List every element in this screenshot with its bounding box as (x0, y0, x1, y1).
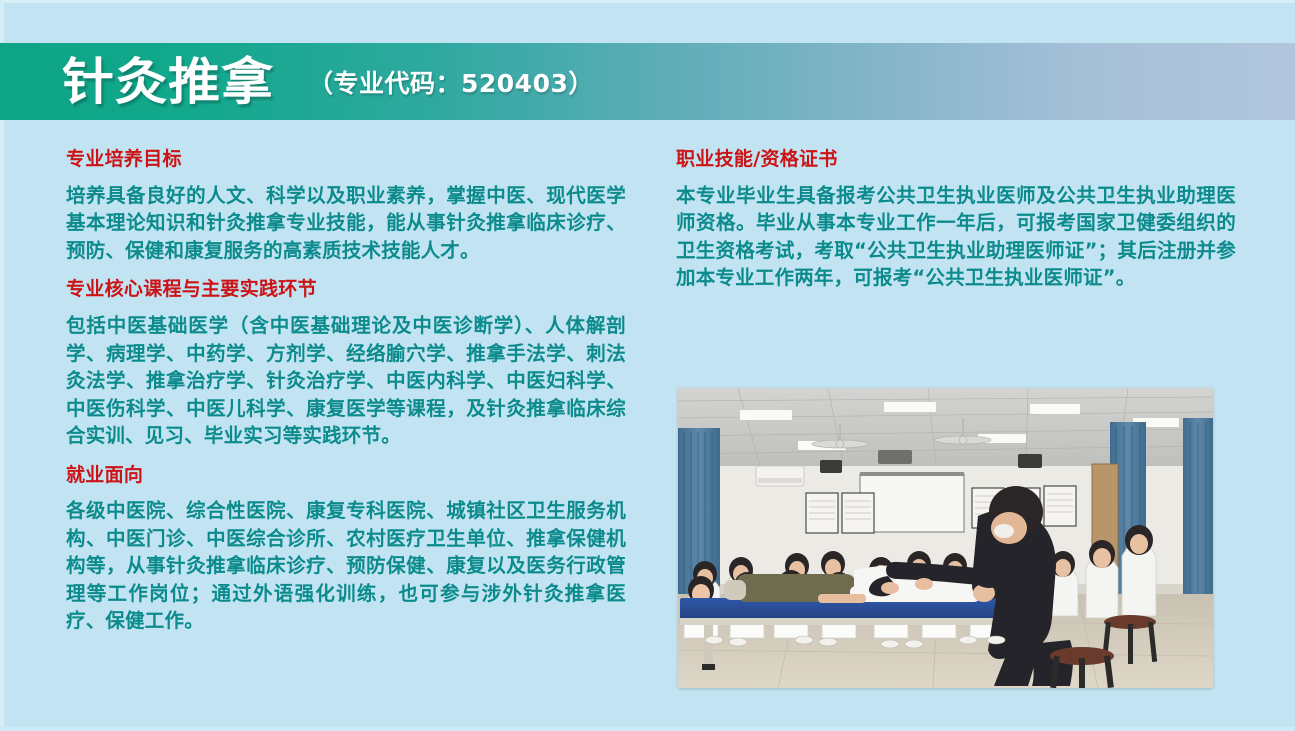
section-heading-core-courses: 专业核心课程与主要实践环节 (66, 278, 626, 302)
classroom-photo-illustration (678, 388, 1213, 688)
edge-highlight-bottom (0, 727, 1295, 731)
section-training-goal: 专业培养目标 培养具备良好的人文、科学以及职业素养，掌握中医、现代医学基本理论知… (66, 148, 626, 264)
section-body-core-courses: 包括中医基础医学（含中医基础理论及中医诊断学）、人体解剖学、病理学、中药学、方剂… (66, 312, 626, 450)
edge-highlight-top (0, 0, 1295, 3)
section-core-courses: 专业核心课程与主要实践环节 包括中医基础医学（含中医基础理论及中医诊断学）、人体… (66, 278, 626, 449)
page-title: 针灸推拿 (62, 57, 274, 107)
slide-canvas: 针灸推拿 （专业代码：520403） 专业培养目标 培养具备良好的人文、科学以及… (0, 0, 1295, 731)
header-banner: 针灸推拿 （专业代码：520403） (0, 43, 1295, 120)
section-body-certificates: 本专业毕业生具备报考公共卫生执业医师及公共卫生执业助理医师资格。毕业从事本专业工… (676, 182, 1236, 292)
section-heading-training-goal: 专业培养目标 (66, 148, 626, 172)
left-column: 专业培养目标 培养具备良好的人文、科学以及职业素养，掌握中医、现代医学基本理论知… (66, 148, 626, 650)
section-heading-employment: 就业面向 (66, 464, 626, 488)
section-body-training-goal: 培养具备良好的人文、科学以及职业素养，掌握中医、现代医学基本理论知识和针灸推拿专… (66, 182, 626, 265)
section-employment: 就业面向 各级中医院、综合性医院、康复专科医院、城镇社区卫生服务机构、中医门诊、… (66, 464, 626, 635)
major-code-label: （专业代码：520403） (308, 64, 594, 100)
section-body-employment: 各级中医院、综合性医院、康复专科医院、城镇社区卫生服务机构、中医门诊、中医综合诊… (66, 497, 626, 635)
right-column: 职业技能/资格证书 本专业毕业生具备报考公共卫生执业医师及公共卫生执业助理医师资… (676, 148, 1236, 307)
header-banner-content: 针灸推拿 （专业代码：520403） (0, 43, 1295, 120)
section-heading-certificates: 职业技能/资格证书 (676, 148, 1236, 172)
section-certificates: 职业技能/资格证书 本专业毕业生具备报考公共卫生执业医师及公共卫生执业助理医师资… (676, 148, 1236, 292)
tuina-classroom-demonstration-photo (678, 388, 1213, 688)
